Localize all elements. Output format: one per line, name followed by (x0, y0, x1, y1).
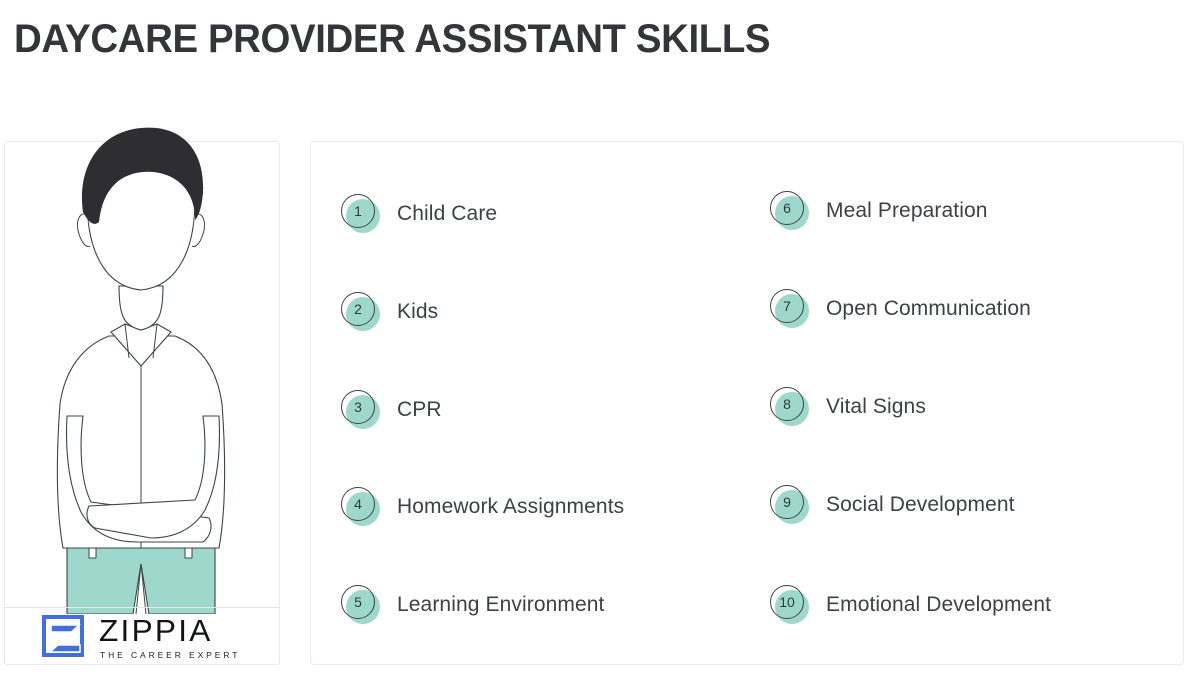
list-item[interactable]: 7 Open Communication (768, 285, 1031, 333)
logo-divider (5, 607, 279, 608)
page-title: DAYCARE PROVIDER ASSISTANT SKILLS (14, 17, 770, 62)
skill-label: Homework Assignments (397, 495, 624, 519)
skills-panel: 1 Child Care 2 Kids 3 CPR 4 (310, 141, 1184, 665)
skill-label: Emotional Development (826, 593, 1051, 617)
person-illustration (5, 114, 281, 614)
skill-number-badge: 1 (339, 192, 383, 236)
badge-number: 6 (770, 191, 804, 225)
skill-label: Kids (397, 300, 438, 324)
list-item[interactable]: 8 Vital Signs (768, 383, 926, 431)
list-item[interactable]: 6 Meal Preparation (768, 187, 988, 235)
skill-number-badge: 8 (768, 385, 812, 429)
list-item[interactable]: 4 Homework Assignments (339, 483, 624, 531)
badge-number: 5 (341, 585, 375, 619)
skill-label: Social Development (826, 493, 1015, 517)
badge-number: 2 (341, 292, 375, 326)
skill-label: Child Care (397, 202, 497, 226)
skill-number-badge: 10 (768, 583, 812, 627)
list-item[interactable]: 5 Learning Environment (339, 581, 604, 629)
skill-number-badge: 3 (339, 388, 383, 432)
zippia-wordmark: ZIPPIA (99, 615, 213, 646)
badge-number: 1 (341, 194, 375, 228)
zippia-z-mark (40, 612, 88, 660)
skill-number-badge: 5 (339, 583, 383, 627)
zippia-logo: ZIPPIA THE CAREER EXPERT (40, 612, 240, 660)
list-item[interactable]: 3 CPR (339, 386, 442, 434)
skill-number-badge: 4 (339, 485, 383, 529)
skill-number-badge: 7 (768, 287, 812, 331)
list-item[interactable]: 1 Child Care (339, 190, 497, 238)
skill-label: Vital Signs (826, 395, 926, 419)
zippia-tagline: THE CAREER EXPERT (100, 651, 240, 660)
list-item[interactable]: 10 Emotional Development (768, 581, 1051, 629)
skill-number-badge: 9 (768, 483, 812, 527)
skill-number-badge: 2 (339, 290, 383, 334)
badge-number: 3 (341, 390, 375, 424)
badge-number: 7 (770, 289, 804, 323)
skill-label: CPR (397, 398, 442, 422)
badge-number: 10 (770, 585, 804, 619)
badge-number: 8 (770, 387, 804, 421)
list-item[interactable]: 2 Kids (339, 288, 438, 336)
skill-label: Meal Preparation (826, 199, 988, 223)
skill-number-badge: 6 (768, 189, 812, 233)
skill-label: Open Communication (826, 297, 1031, 321)
badge-number: 9 (770, 485, 804, 519)
badge-number: 4 (341, 487, 375, 521)
skill-label: Learning Environment (397, 593, 604, 617)
list-item[interactable]: 9 Social Development (768, 481, 1015, 529)
illustration-panel (4, 141, 280, 665)
